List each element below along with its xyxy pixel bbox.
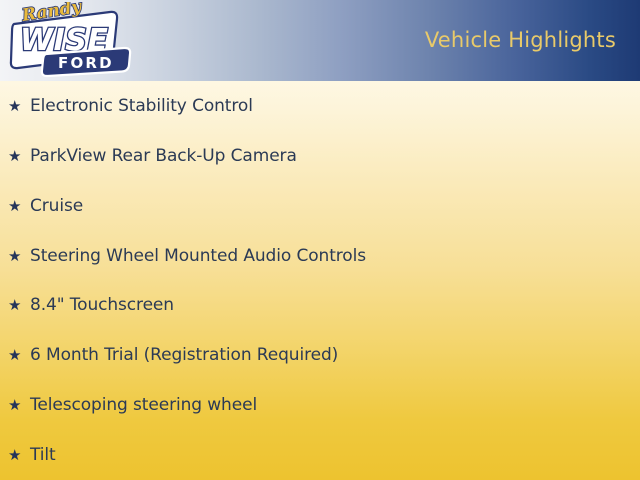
list-item: ★ ParkView Rear Back-Up Camera bbox=[8, 143, 297, 169]
star-icon: ★ bbox=[8, 448, 30, 463]
list-item: ★ Cruise bbox=[8, 193, 83, 219]
star-icon: ★ bbox=[8, 99, 30, 114]
star-icon: ★ bbox=[8, 149, 30, 164]
star-icon: ★ bbox=[8, 398, 30, 413]
list-item: ★ 6 Month Trial (Registration Required) bbox=[8, 342, 338, 368]
list-item-label: Tilt bbox=[30, 445, 56, 465]
list-item-label: Cruise bbox=[30, 196, 83, 216]
list-item: ★ 8.4" Touchscreen bbox=[8, 292, 174, 318]
list-item-label: 6 Month Trial (Registration Required) bbox=[30, 345, 338, 365]
list-item-label: Telescoping steering wheel bbox=[30, 395, 257, 415]
star-icon: ★ bbox=[8, 249, 30, 264]
star-icon: ★ bbox=[8, 298, 30, 313]
list-item-label: 8.4" Touchscreen bbox=[30, 295, 174, 315]
page-title: Vehicle Highlights bbox=[425, 28, 616, 52]
star-icon: ★ bbox=[8, 199, 30, 214]
list-item-label: Steering Wheel Mounted Audio Controls bbox=[30, 246, 366, 266]
randy-wise-ford-logo: WISE Randy FORD bbox=[6, 2, 134, 78]
list-item-label: ParkView Rear Back-Up Camera bbox=[30, 146, 297, 166]
logo-banner-text: FORD bbox=[58, 54, 114, 72]
list-item-label: Electronic Stability Control bbox=[30, 96, 253, 116]
list-item: ★ Tilt bbox=[8, 442, 56, 468]
list-item: ★ Steering Wheel Mounted Audio Controls bbox=[8, 243, 366, 269]
header-banner: WISE Randy FORD Vehicle Highlights bbox=[0, 0, 640, 81]
list-item: ★ Electronic Stability Control bbox=[8, 93, 253, 119]
star-icon: ★ bbox=[8, 348, 30, 363]
list-item: ★ Telescoping steering wheel bbox=[8, 392, 257, 418]
vehicle-highlights-slide: WISE Randy FORD Vehicle Highlights ★ Ele… bbox=[0, 0, 640, 480]
vehicle-highlights-list: ★ Electronic Stability Control ★ ParkVie… bbox=[0, 81, 640, 480]
